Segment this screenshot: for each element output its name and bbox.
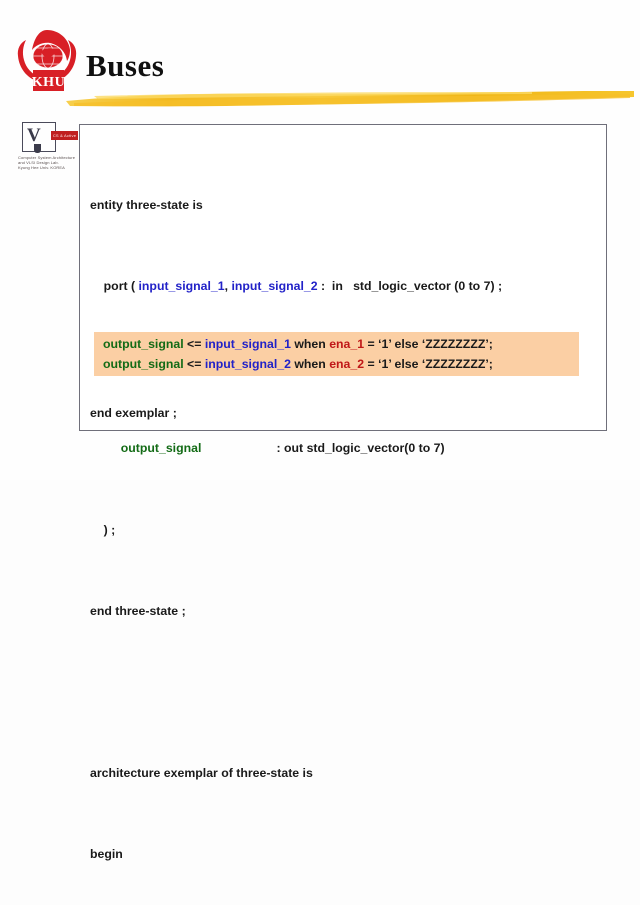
code-line-close-paren: ) ; (90, 520, 600, 540)
code-port-type-1: : in std_logic_vector (0 to 7) ; (318, 279, 502, 293)
assign2-output: output_signal (103, 357, 184, 371)
vhdl-code-block: entity three-state is port ( input_signa… (90, 134, 600, 905)
title-underline-brush (64, 89, 636, 108)
code-line-entity: entity three-state is (90, 195, 600, 215)
code-output-signal: output_signal (90, 441, 201, 455)
assign1-operator: <= (184, 337, 205, 351)
code-end-entity-text: end three-state ; (90, 604, 186, 618)
code-port-keyword: port ( (90, 279, 139, 293)
highlighted-assignments: output_signal <= input_signal_1 when ena… (94, 332, 579, 376)
assign1-input: input_signal_1 (205, 337, 291, 351)
code-input-signal-2: input_signal_2 (231, 279, 317, 293)
code-close-paren-text: ) ; (90, 523, 115, 537)
assign2-operator: <= (184, 357, 205, 371)
khu-logo-icon: KHU (14, 26, 80, 94)
code-begin-text: begin (90, 847, 123, 861)
lab-logo-vmark: V (27, 126, 41, 145)
assign2-rest: = ‘1’ else ‘ZZZZZZZZ’; (364, 357, 493, 371)
code-line-end-entity: end three-state ; (90, 601, 600, 621)
assign1-output: output_signal (103, 337, 184, 351)
code-input-signal-1: input_signal_1 (139, 279, 225, 293)
code-line-output: output_signal : out std_logic_vector(0 t… (90, 438, 600, 458)
code-architecture-text: architecture exemplar of three-state is (90, 766, 313, 780)
code-blank-line-1 (90, 682, 600, 702)
khu-wordmark: KHU (32, 75, 65, 90)
lab-logo-tag-label: CS & Active (51, 131, 78, 140)
code-panel: entity three-state is port ( input_signa… (79, 124, 607, 431)
page-title: Buses (86, 50, 164, 81)
slide-canvas: KHU Buses V CS & Active (0, 0, 640, 480)
assign2-enable: ena_2 (329, 357, 364, 371)
lab-logo-stem (34, 144, 41, 153)
code-entity-text: entity three-state is (90, 198, 203, 212)
code-line-begin: begin (90, 844, 600, 864)
code-line-port: port ( input_signal_1, input_signal_2 : … (90, 276, 600, 296)
assignment-row-1: output_signal <= input_signal_1 when ena… (103, 334, 493, 354)
assign1-rest: = ‘1’ else ‘ZZZZZZZZ’; (364, 337, 493, 351)
lab-logo: V CS & Active Computer System Architectu… (18, 122, 80, 174)
assignment-row-2: output_signal <= input_signal_2 when ena… (103, 354, 493, 374)
code-line-architecture: architecture exemplar of three-state is (90, 763, 600, 783)
assign2-when: when (291, 357, 329, 371)
assign1-when: when (291, 337, 329, 351)
code-port-type-3: : out std_logic_vector(0 to 7) (201, 441, 444, 455)
assign1-enable: ena_1 (329, 337, 364, 351)
assign2-input: input_signal_2 (205, 357, 291, 371)
lab-logo-tag: CS & Active (51, 131, 78, 140)
code-line-end-exemplar: end exemplar ; (90, 403, 177, 423)
lab-logo-line3: Kyung Hee Univ. KOREA (18, 165, 65, 170)
